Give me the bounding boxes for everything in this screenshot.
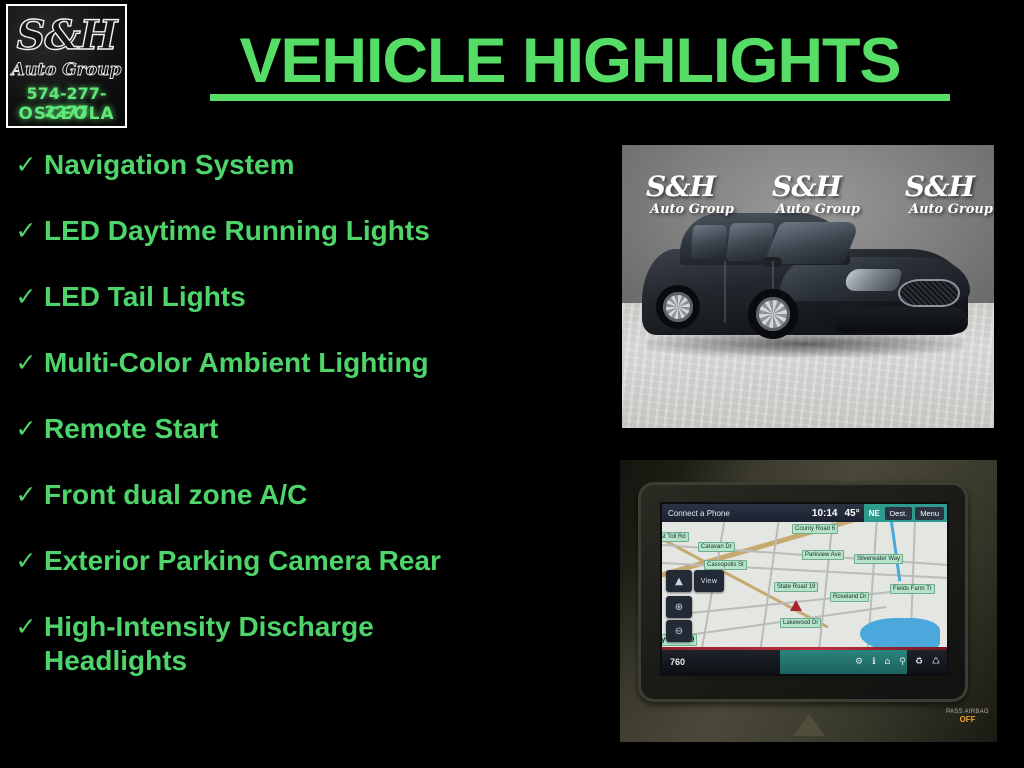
zoom-out-icon: ⊖ bbox=[666, 620, 692, 642]
front-wheel bbox=[748, 289, 798, 339]
compass-heading: NE bbox=[867, 509, 882, 518]
rear-wheel bbox=[656, 285, 700, 329]
map-label: Lakewood Dr bbox=[780, 618, 821, 628]
seat-cool-icon[interactable]: ♺ bbox=[932, 657, 940, 667]
logo-brand-text: S&H bbox=[8, 14, 125, 58]
map-label: Silverwater Way bbox=[854, 554, 903, 564]
destination-button[interactable]: Dest. bbox=[885, 507, 913, 520]
map-label: Fields Farm Tr bbox=[890, 584, 935, 594]
map-label: Parkview Ave bbox=[802, 550, 844, 560]
door-seam bbox=[724, 261, 726, 323]
bottom-icon-row: ⚙ ℹ ⌂ ⚲ ♻ ♺ bbox=[855, 657, 947, 667]
front-grille bbox=[898, 279, 960, 307]
map-canvas[interactable]: st Toll Rd Caravan Dr County Road 6 Cass… bbox=[662, 522, 947, 650]
map-label: Cassopolis St bbox=[704, 560, 747, 570]
feature-label: Multi-Color Ambient Lighting bbox=[44, 346, 429, 380]
headlamp bbox=[843, 269, 902, 291]
view-button-label: View bbox=[694, 570, 724, 592]
page-title-container: VEHICLE HIGHLIGHTS bbox=[140, 28, 1000, 108]
center-vent-shape bbox=[793, 714, 825, 736]
climate-icon[interactable]: ⚲ bbox=[899, 657, 906, 667]
map-label: State Road 19 bbox=[774, 582, 818, 592]
river bbox=[890, 522, 901, 581]
page-title: VEHICLE HIGHLIGHTS bbox=[140, 28, 1000, 94]
feature-label: Remote Start bbox=[44, 412, 218, 446]
list-item: ✓ Remote Start bbox=[8, 412, 608, 478]
feature-list: ✓ Navigation System ✓ LED Daytime Runnin… bbox=[8, 148, 608, 678]
vehicle-position-marker bbox=[790, 600, 802, 611]
navigation-screen-photo: Connect a Phone 10:14 45° NE Dest. Menu bbox=[620, 460, 997, 742]
info-icon[interactable]: ℹ bbox=[872, 657, 875, 667]
zoom-in-icon: ⊕ bbox=[666, 596, 692, 618]
compass-arrow-icon: ▲ bbox=[666, 570, 692, 592]
road-minor bbox=[816, 522, 834, 650]
check-icon: ✓ bbox=[8, 346, 44, 380]
vehicle-exterior-photo: S&H Auto Group S&H Auto Group S&H Auto G… bbox=[622, 145, 994, 428]
infotainment-screen: Connect a Phone 10:14 45° NE Dest. Menu bbox=[662, 504, 947, 674]
clock-temp-group: 10:14 45° bbox=[812, 508, 864, 519]
slide-canvas: S&H Auto Group 574-277-2277 OSCEOLA VEHI… bbox=[0, 0, 1024, 768]
feature-label: Front dual zone A/C bbox=[44, 478, 307, 512]
list-item: ✓ Front dual zone A/C bbox=[8, 478, 608, 544]
radio-frequency-display: 760 bbox=[662, 657, 685, 667]
check-icon: ✓ bbox=[8, 412, 44, 446]
list-item: ✓ Navigation System bbox=[8, 148, 608, 214]
passenger-airbag-indicator: PASS AIRBAG OFF bbox=[946, 709, 989, 724]
logo-subtitle-text: Auto Group bbox=[8, 61, 125, 80]
check-icon: ✓ bbox=[8, 148, 44, 182]
list-item: ✓ Exterior Parking Camera Rear bbox=[8, 544, 608, 610]
check-icon: ✓ bbox=[8, 280, 44, 314]
feature-label: High-Intensity Discharge Headlights bbox=[44, 610, 494, 678]
seat-heat-icon[interactable]: ♻ bbox=[915, 657, 923, 667]
list-item: ✓ High-Intensity Discharge Headlights bbox=[8, 610, 608, 678]
zoom-out-button[interactable]: ⊖ bbox=[666, 620, 692, 642]
rear-window bbox=[691, 225, 727, 259]
airbag-state: OFF bbox=[946, 715, 989, 724]
check-icon: ✓ bbox=[8, 214, 44, 248]
connect-phone-button[interactable]: Connect a Phone bbox=[662, 509, 730, 518]
list-item: ✓ Multi-Color Ambient Lighting bbox=[8, 346, 608, 412]
map-label: Roseland Dr bbox=[830, 592, 869, 602]
feature-label: LED Tail Lights bbox=[44, 280, 246, 314]
check-icon: ✓ bbox=[8, 544, 44, 578]
map-label: Caravan Dr bbox=[698, 542, 735, 552]
north-orientation-button[interactable]: ▲ bbox=[666, 570, 692, 592]
nav-bottom-bar: 760 ⚙ ℹ ⌂ ⚲ ♻ ♺ bbox=[662, 650, 947, 674]
list-item: ✓ LED Daytime Running Lights bbox=[8, 214, 608, 280]
feature-label: Exterior Parking Camera Rear bbox=[44, 544, 441, 578]
feature-label: Navigation System bbox=[44, 148, 295, 182]
logo-city-text: OSCEOLA bbox=[8, 105, 125, 124]
settings-gear-icon[interactable]: ⚙ bbox=[855, 657, 863, 667]
home-icon[interactable]: ⌂ bbox=[885, 657, 891, 667]
dealer-logo: S&H Auto Group 574-277-2277 OSCEOLA bbox=[6, 4, 127, 128]
front-bumper bbox=[836, 307, 968, 333]
nav-status-bar: Connect a Phone 10:14 45° NE Dest. Menu bbox=[662, 504, 947, 522]
lake bbox=[860, 618, 940, 650]
zoom-in-button[interactable]: ⊕ bbox=[666, 596, 692, 618]
menu-button[interactable]: Menu bbox=[915, 507, 944, 520]
feature-label: LED Daytime Running Lights bbox=[44, 214, 430, 248]
list-item: ✓ LED Tail Lights bbox=[8, 280, 608, 346]
nav-controls-group: NE Dest. Menu bbox=[864, 504, 947, 522]
map-label: st Toll Rd bbox=[662, 532, 689, 542]
title-underline bbox=[210, 94, 950, 101]
nav-temperature: 45° bbox=[844, 508, 859, 519]
sedan-illustration bbox=[640, 213, 970, 358]
map-label: County Road 6 bbox=[792, 524, 838, 534]
nav-clock: 10:14 bbox=[812, 508, 838, 519]
check-icon: ✓ bbox=[8, 610, 44, 644]
check-icon: ✓ bbox=[8, 478, 44, 512]
view-mode-button[interactable]: View bbox=[694, 570, 724, 592]
